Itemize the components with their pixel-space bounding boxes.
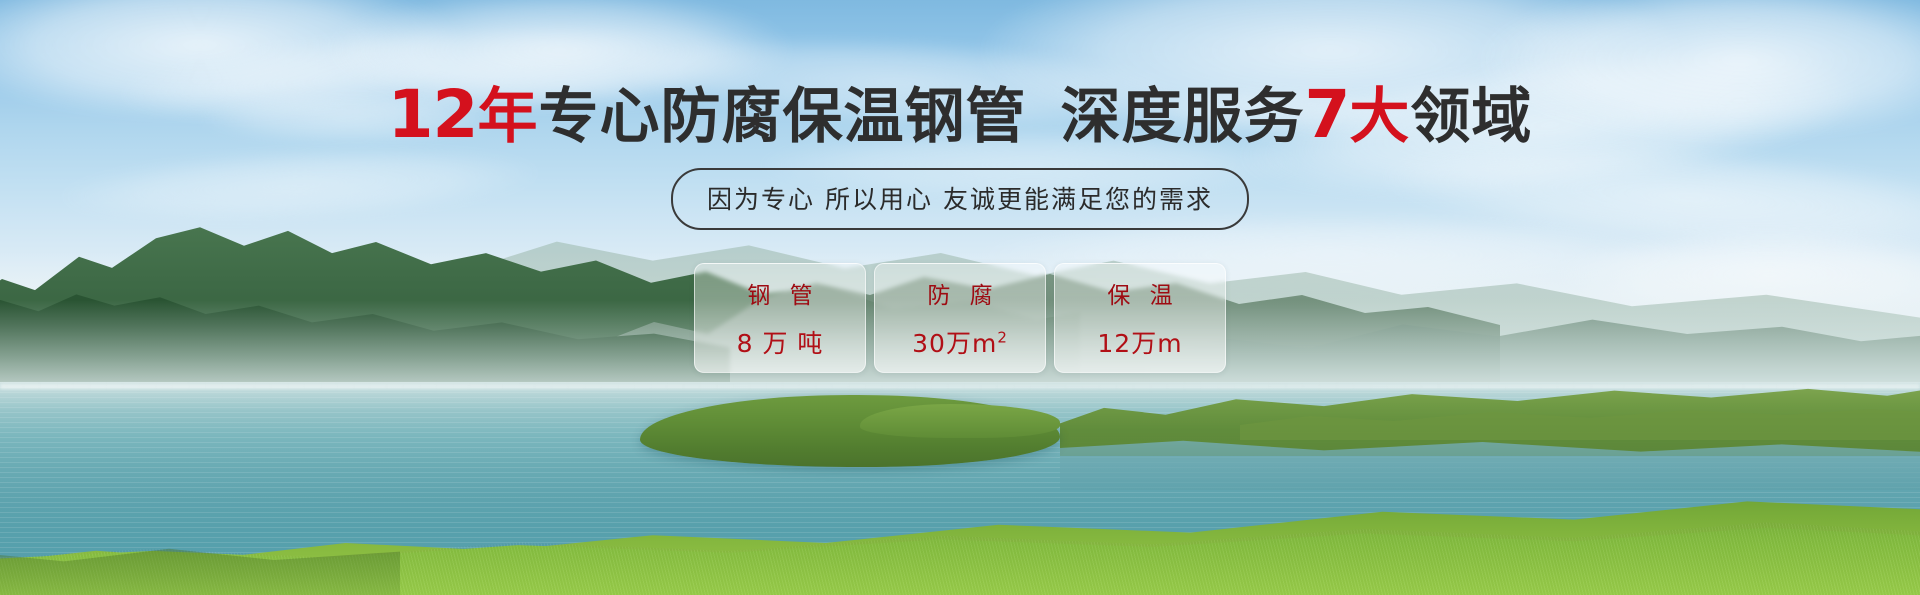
stat-value-superscript: 2	[997, 329, 1008, 347]
headline-years-number: 12	[388, 76, 478, 153]
banner-headline: 12年专心防腐保温钢管深度服务7大领域	[0, 82, 1920, 148]
stat-label: 钢 管	[741, 276, 818, 310]
headline-service-text: 深度服务	[1060, 82, 1304, 152]
stat-value-text: 8 万 吨	[737, 329, 824, 358]
stat-label: 防 腐	[921, 276, 998, 310]
stat-card-insulation[interactable]: 保 温 12万m	[1054, 263, 1226, 373]
stat-value-text: 30万m	[912, 329, 997, 358]
headline-years-unit: 年	[477, 82, 538, 152]
stat-card-steel-pipe[interactable]: 钢 管 8 万 吨	[694, 263, 866, 373]
stat-value: 30万m2	[912, 324, 1008, 360]
stats-row: 钢 管 8 万 吨 防 腐 30万m2 保 温 12万m	[0, 263, 1920, 373]
banner-subtitle: 因为专心 所以用心 友诚更能满足您的需求	[671, 168, 1249, 230]
headline-main-text: 专心防腐保温钢管	[538, 82, 1026, 152]
hero-banner: 12年专心防腐保温钢管深度服务7大领域 因为专心 所以用心 友诚更能满足您的需求…	[0, 0, 1920, 595]
stat-value-text: 12万m	[1097, 329, 1182, 358]
headline-fields-measure: 大	[1349, 82, 1410, 152]
stat-value: 12万m	[1097, 324, 1182, 360]
stat-label: 保 温	[1101, 276, 1178, 310]
stat-value: 8 万 吨	[737, 324, 824, 360]
headline-fields-text: 领域	[1410, 82, 1532, 152]
banner-content: 12年专心防腐保温钢管深度服务7大领域 因为专心 所以用心 友诚更能满足您的需求…	[0, 0, 1920, 595]
stat-card-anticorrosion[interactable]: 防 腐 30万m2	[874, 263, 1046, 373]
headline-fields-number: 7	[1304, 76, 1349, 153]
banner-subtitle-container: 因为专心 所以用心 友诚更能满足您的需求	[0, 168, 1920, 230]
